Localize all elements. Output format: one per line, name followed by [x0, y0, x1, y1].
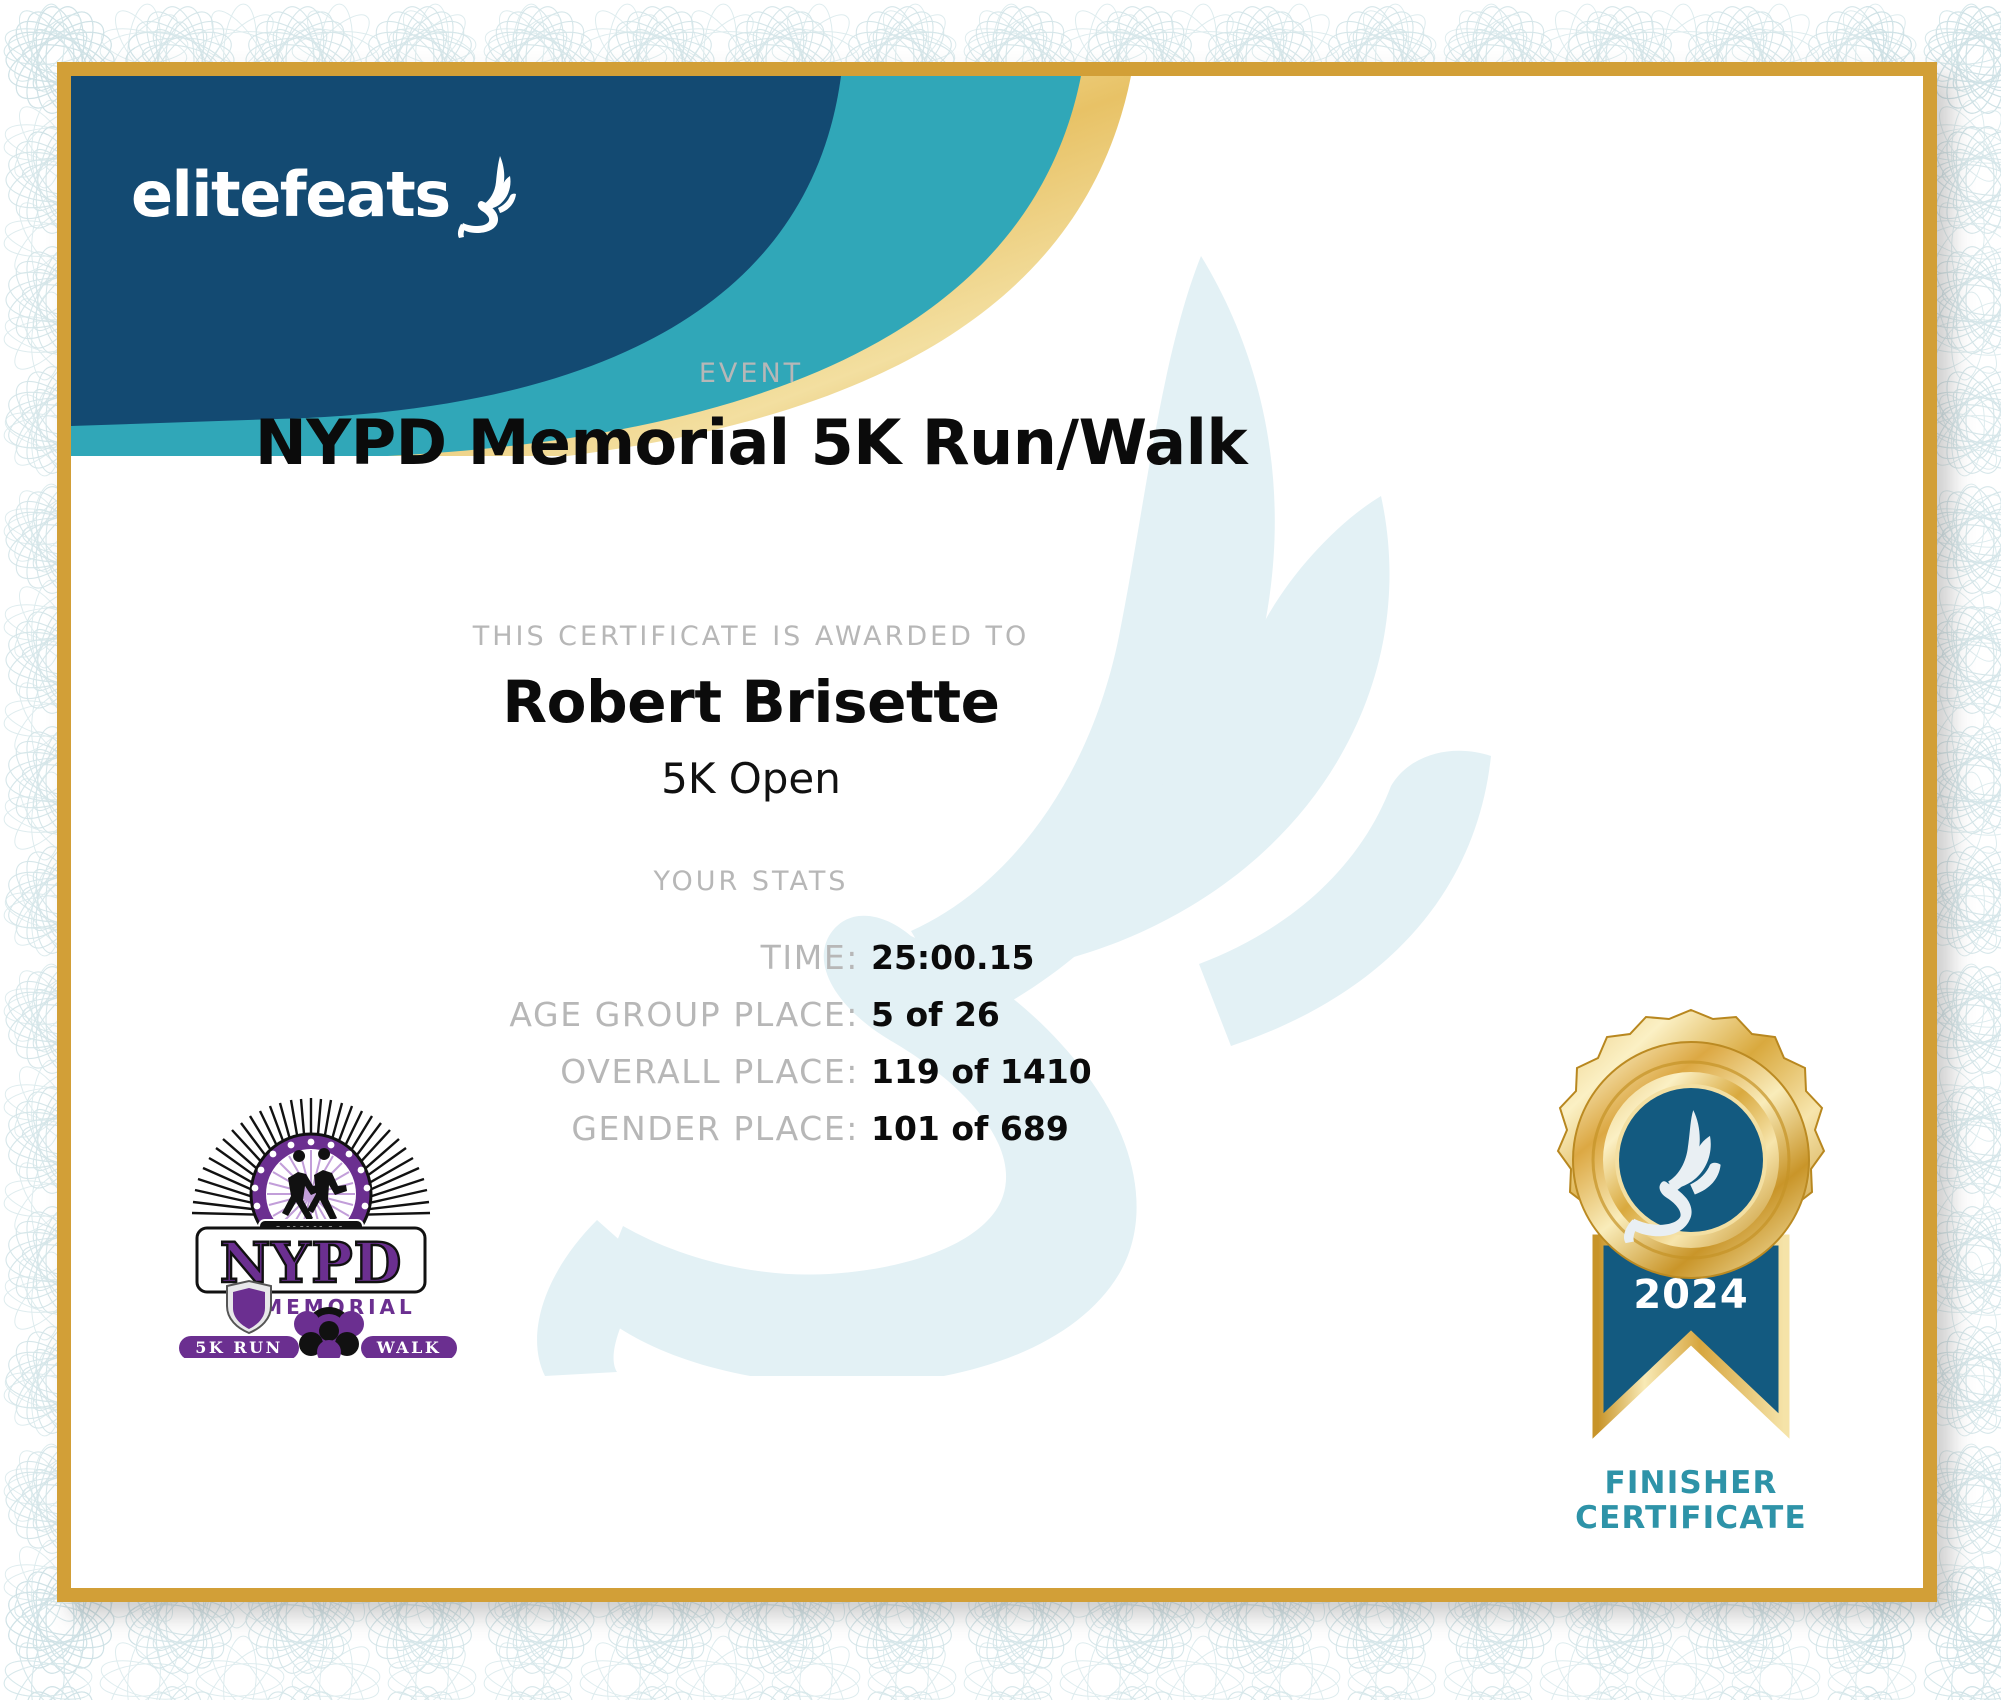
recipient-division: 5K Open	[71, 754, 1431, 803]
nypd-memorial-5k-logo: ANNUAL NYPD MEMORIAL	[161, 1088, 461, 1358]
stat-value-overall-place: 119 of 1410	[871, 1052, 1171, 1091]
awarded-to-label: THIS CERTIFICATE IS AWARDED TO	[71, 621, 1431, 652]
your-stats-label: YOUR STATS	[71, 866, 1431, 897]
finisher-certificate-caption: FINISHER CERTIFICATE	[1526, 1466, 1856, 1535]
finisher-caption-line2: CERTIFICATE	[1526, 1501, 1856, 1536]
certificate-body: elitefeats EVEN	[71, 76, 1923, 1588]
logo-left-banner-text: 5K RUN	[195, 1338, 282, 1357]
stat-label-age-group-place: AGE GROUP PLACE:	[509, 995, 859, 1034]
logo-right-banner-text: WALK	[376, 1338, 442, 1357]
stat-value-age-group-place: 5 of 26	[871, 995, 1171, 1034]
stat-value-time: 25:00.15	[871, 938, 1171, 977]
stat-value-gender-place: 101 of 689	[871, 1109, 1171, 1148]
stat-row-age-group-place: AGE GROUP PLACE: 5 of 26	[71, 995, 1431, 1034]
stat-label-gender-place: GENDER PLACE:	[571, 1109, 859, 1148]
stat-label-overall-place: OVERALL PLACE:	[560, 1052, 859, 1091]
event-label: EVENT	[71, 358, 1431, 389]
stat-label-time: TIME:	[761, 938, 859, 977]
certificate-content: EVENT NYPD Memorial 5K Run/Walk THIS CER…	[71, 76, 1923, 1588]
event-title: NYPD Memorial 5K Run/Walk	[71, 406, 1431, 479]
stat-row-time: TIME: 25:00.15	[71, 938, 1431, 977]
stat-row-overall-place: OVERALL PLACE: 119 of 1410	[71, 1052, 1431, 1091]
recipient-name: Robert Brisette	[71, 668, 1431, 736]
finisher-caption-line1: FINISHER	[1526, 1466, 1856, 1501]
finisher-medal-badge: 2024	[1526, 1008, 1856, 1498]
certificate-frame: elitefeats EVEN	[57, 62, 1937, 1602]
